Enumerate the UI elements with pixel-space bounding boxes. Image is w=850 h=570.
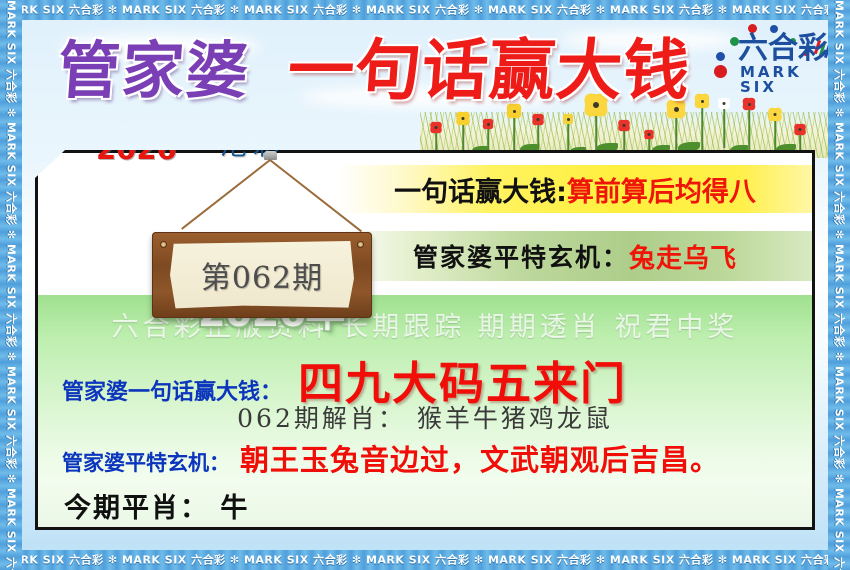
- xuanji-row: 管家婆平特玄机： 朝王玉兔音边过，文武朝观后吉昌。: [62, 437, 720, 479]
- border-top: MARK SIX 六合彩 ✻ MARK SIX 六合彩 ✻ MARK SIX 六…: [0, 0, 850, 20]
- xuanji-value: 朝王玉兔音边过，文武朝观后吉昌。: [240, 437, 720, 479]
- rope-icon: [269, 159, 362, 232]
- border-right: MARK SIX 六合彩 ✻ MARK SIX 六合彩 ✻ MARK SIX 六…: [828, 0, 850, 570]
- border-bottom: MARK SIX 六合彩 ✻ MARK SIX 六合彩 ✻ MARK SIX 六…: [0, 550, 850, 570]
- border-tile-text: MARK SIX 六合彩 ✻ MARK SIX 六合彩 ✻ MARK SIX 六…: [0, 555, 850, 566]
- bottom-row-text: 今期平肖： 牛: [64, 486, 249, 525]
- bottom-row: 今期平肖： 牛: [38, 483, 812, 527]
- tip-label-green: 管家婆平特玄机：: [413, 238, 629, 274]
- hanging-sign: 第062期: [128, 157, 428, 317]
- tip-value-yellow: 算前算后均得八: [567, 170, 756, 209]
- flower-icon: [560, 114, 576, 152]
- logo-dot-icon: [714, 65, 727, 78]
- content-panel: 2026 港彩 第062期 一句话赢大钱: 算前算后均得八: [35, 150, 815, 530]
- flower-icon: [616, 120, 632, 154]
- sign-paper: 第062期: [170, 241, 354, 309]
- border-tile-text: MARK SIX 六合彩 ✻ MARK SIX 六合彩 ✻ MARK SIX 六…: [0, 5, 850, 16]
- border-left: MARK SIX 六合彩 ✻ MARK SIX 六合彩 ✻ MARK SIX 六…: [0, 0, 22, 570]
- page-title-secondary: 一句话赢大钱: [286, 38, 693, 104]
- results-block: 六合彩正版资料 长期跟踪 期期透肖 祝君中奖 2026年 管家婆一句话赢大钱： …: [38, 295, 812, 483]
- period-label: 第062期: [170, 241, 354, 309]
- border-tile-text: MARK SIX 六合彩 ✻ MARK SIX 六合彩 ✻ MARK SIX 六…: [834, 0, 845, 570]
- sign-board: 第062期: [152, 232, 372, 318]
- screw-icon: [357, 241, 364, 248]
- border-tile-text: MARK SIX 六合彩 ✻ MARK SIX 六合彩 ✻ MARK SIX 六…: [6, 0, 17, 570]
- tip-value-green: 兔走乌飞: [629, 238, 737, 275]
- xuanji-label: 管家婆平特玄机：: [62, 447, 230, 477]
- zodiac-row: 062期解肖： 猴羊牛猪鸡龙鼠: [38, 399, 812, 435]
- lottery-poster: 管家婆 一句话赢大钱 六合彩 MARK SIX: [0, 0, 850, 570]
- logo-text-en: MARK SIX: [740, 65, 832, 95]
- page-title-primary: 管家婆: [56, 40, 252, 102]
- logo-text-cn: 六合彩: [738, 34, 828, 64]
- rope-icon: [181, 159, 270, 230]
- screw-icon: [160, 241, 167, 248]
- logo-dot-icon: [716, 52, 725, 61]
- flower-icon: [454, 112, 472, 154]
- mark-six-logo: 六合彩 MARK SIX: [704, 24, 832, 86]
